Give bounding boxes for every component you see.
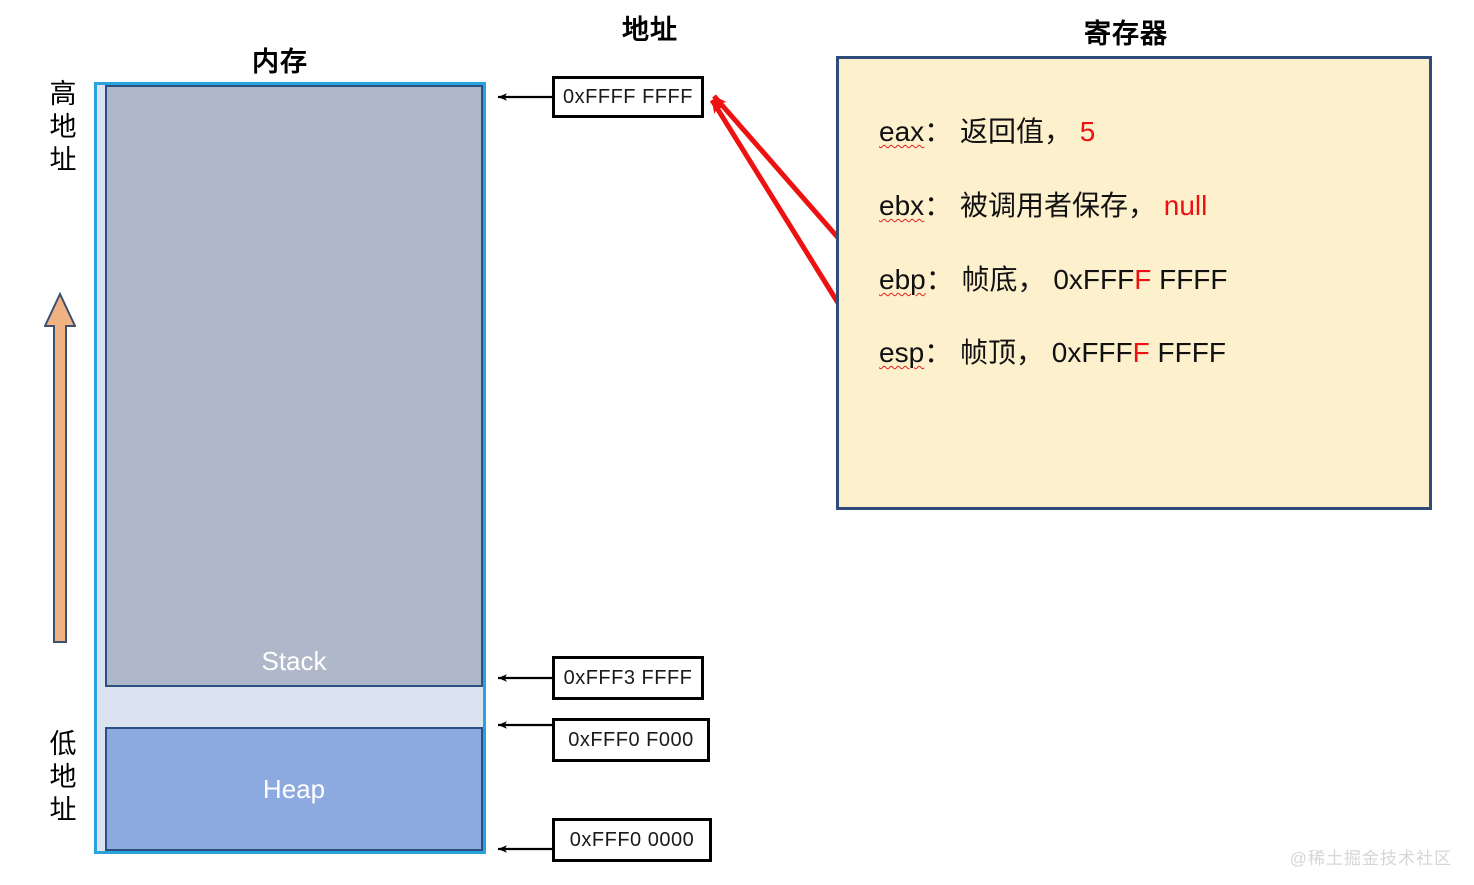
register-name-esp: esp [879, 337, 924, 368]
diagram-canvas: 内存 地址 寄存器 高地址 低地址 Stack Heap 0xFFFF FFFF… [0, 0, 1474, 885]
register-name-ebx: ebx [879, 190, 924, 221]
register-row-ebp: ebp： 帧底， 0xFFFF FFFF [879, 263, 1228, 297]
register-name-ebp: ebp [879, 264, 926, 295]
register-value-ebx: null [1164, 190, 1208, 221]
address-callout-heap-top: 0xFFF0 F000 [552, 718, 710, 762]
register-desc-eax: 返回值， [960, 116, 1072, 147]
register-separator: ： [926, 264, 954, 295]
register-value-eax: 5 [1080, 116, 1096, 147]
register-row-ebx: ebx： 被调用者保存， null [879, 189, 1207, 223]
register-panel: eax： 返回值， 5 ebx： 被调用者保存， null ebp： 帧底， 0… [836, 56, 1432, 510]
memory-section-title: 内存 [252, 40, 308, 79]
memory-container: Stack Heap [94, 82, 486, 854]
register-value-ebp-suffix: FFFF [1151, 264, 1227, 295]
register-value-esp-suffix: FFFF [1150, 337, 1226, 368]
heap-label: Heap [263, 774, 325, 805]
address-callout-stack-top: 0xFFF3 FFFF [552, 656, 704, 700]
register-name-eax: eax [879, 116, 924, 147]
register-value-ebp-highlight: F [1134, 264, 1151, 295]
register-value-esp-highlight: F [1133, 337, 1150, 368]
register-section-title: 寄存器 [1084, 12, 1168, 51]
high-address-label: 高地址 [46, 78, 80, 177]
register-value-ebp-prefix: 0xFFF [1053, 264, 1134, 295]
register-separator: ： [924, 190, 952, 221]
address-section-title: 地址 [622, 8, 678, 47]
up-arrow-icon [44, 292, 76, 644]
watermark: @稀土掘金技术社区 [1290, 844, 1452, 869]
register-row-esp: esp： 帧顶， 0xFFFF FFFF [879, 336, 1226, 370]
address-callout-top: 0xFFFF FFFF [552, 76, 704, 118]
stack-block: Stack [105, 85, 483, 687]
free-gap-block [105, 687, 483, 727]
register-value-esp-prefix: 0xFFF [1052, 337, 1133, 368]
register-separator: ： [924, 116, 952, 147]
register-desc-ebp: 帧底， [962, 264, 1046, 295]
address-callout-bottom: 0xFFF0 0000 [552, 818, 712, 862]
register-desc-esp: 帧顶， [960, 337, 1044, 368]
low-address-label: 低地址 [46, 728, 80, 827]
register-separator: ： [924, 337, 952, 368]
register-desc-ebx: 被调用者保存， [960, 190, 1156, 221]
callout-leader-lines [498, 97, 552, 849]
heap-block: Heap [105, 727, 483, 851]
register-row-eax: eax： 返回值， 5 [879, 115, 1095, 149]
stack-label: Stack [261, 646, 326, 677]
